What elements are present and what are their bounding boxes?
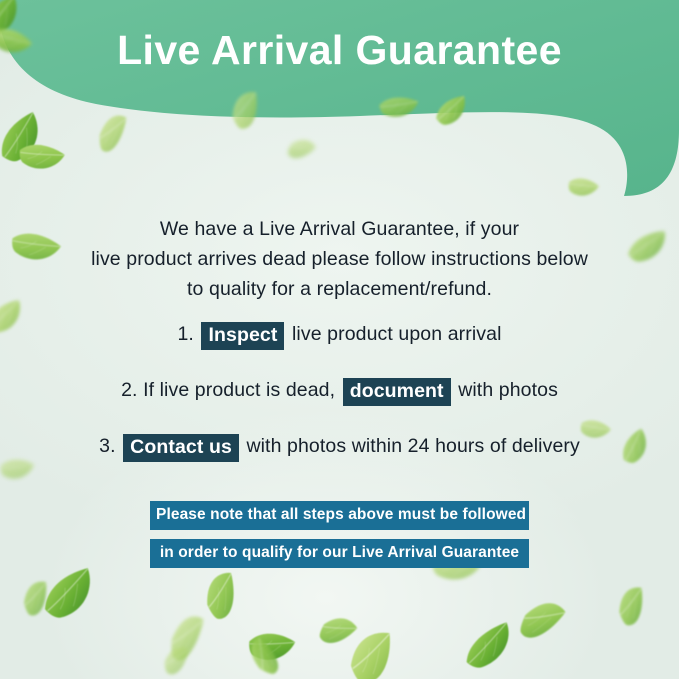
step-item-2: 2. If live product is dead, document wit… bbox=[30, 376, 649, 405]
step-highlight-inspect: Inspect bbox=[201, 322, 284, 350]
intro-paragraph: We have a Live Arrival Guarantee, if you… bbox=[60, 214, 619, 304]
intro-line-1: We have a Live Arrival Guarantee, if you… bbox=[60, 214, 619, 244]
step-item-1: 1. Inspect live product upon arrival bbox=[30, 320, 649, 349]
step-after-1: live product upon arrival bbox=[292, 323, 502, 345]
live-arrival-guarantee-poster: Live Arrival Guarantee We have a Live Ar… bbox=[0, 0, 679, 679]
step-after-2: with photos bbox=[458, 379, 558, 401]
intro-line-3: to quality for a replacement/refund. bbox=[60, 274, 619, 304]
page-title: Live Arrival Guarantee bbox=[0, 28, 679, 73]
intro-line-2: live product arrives dead please follow … bbox=[60, 244, 619, 274]
step-number-3: 3. bbox=[99, 435, 115, 457]
step-after-3: with photos within 24 hours of delivery bbox=[246, 435, 579, 457]
steps-list: 1. Inspect live product upon arrival 2. … bbox=[30, 320, 649, 461]
step-highlight-contact-us: Contact us bbox=[123, 434, 239, 462]
step-number-1: 1. bbox=[177, 323, 193, 345]
step-number-2: 2. bbox=[121, 379, 137, 401]
step-before-2: If live product is dead, bbox=[143, 379, 335, 401]
note-banner-line-1: Please note that all steps above must be… bbox=[150, 501, 529, 530]
note-banner: Please note that all steps above must be… bbox=[150, 501, 529, 568]
note-banner-line-2: in order to qualify for our Live Arrival… bbox=[150, 539, 529, 568]
step-item-3: 3. Contact us with photos within 24 hour… bbox=[30, 432, 649, 461]
step-highlight-document: document bbox=[343, 378, 451, 406]
